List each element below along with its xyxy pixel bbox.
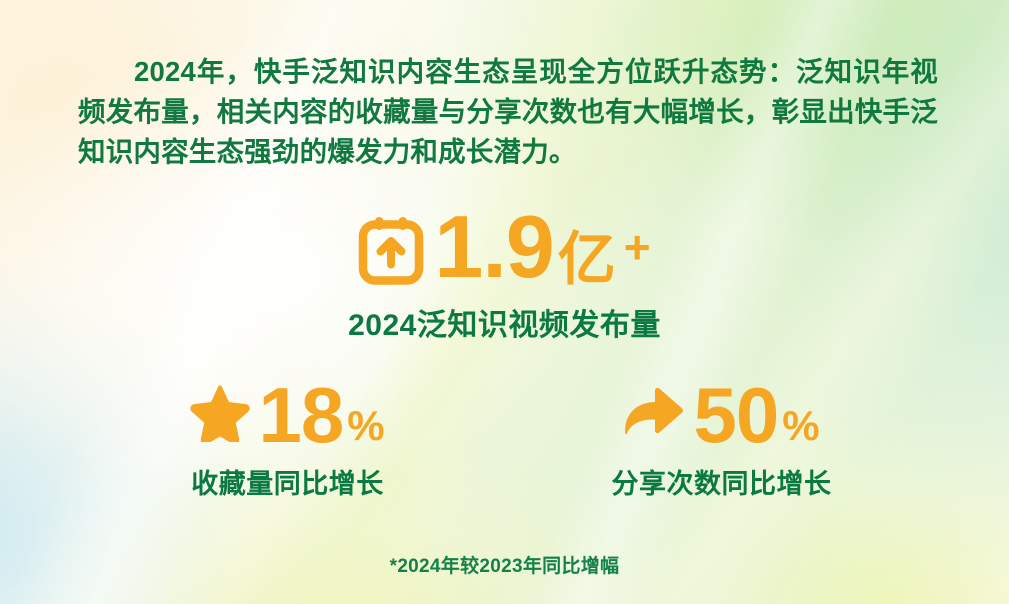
infographic-poster: 2024年，快手泛知识内容生态呈现全方位跃升态势：泛知识年视频发布量，相关内容的… [0,0,1009,604]
stat-shares-label: 分享次数同比增长 [597,462,847,501]
stat-shares-suffix: % [782,405,819,447]
stat-favorites-value: 18 [258,378,343,452]
star-icon [190,384,250,447]
calendar-upload-icon [358,215,424,290]
stat-shares: 50 % 分享次数同比增长 [597,378,847,501]
stat-favorites-label: 收藏量同比增长 [163,462,413,501]
stat-shares-row: 50 % [597,378,847,452]
stat-favorites-row: 18 % [163,378,413,452]
stat-favorites-suffix: % [347,405,384,447]
stat-shares-value: 50 [693,378,778,452]
intro-paragraph: 2024年，快手泛知识内容生态呈现全方位跃升态势：泛知识年视频发布量，相关内容的… [78,52,938,172]
hero-stat-block: 1.9 亿 + 2024泛知识视频发布量 [0,205,1009,344]
hero-stat-suffix: + [624,224,651,270]
stats-row: 18 % 收藏量同比增长 50 % 分享次数同比增长 [0,378,1009,501]
hero-stat-value: 1.9 [434,207,553,288]
hero-stat-row: 1.9 亿 + [0,205,1009,290]
share-arrow-icon [623,386,685,445]
hero-stat-unit: 亿 [558,233,616,286]
footnote-text: *2024年较2023年同比增幅 [0,551,1009,578]
stat-favorites: 18 % 收藏量同比增长 [163,378,413,501]
hero-stat-label: 2024泛知识视频发布量 [0,300,1009,344]
